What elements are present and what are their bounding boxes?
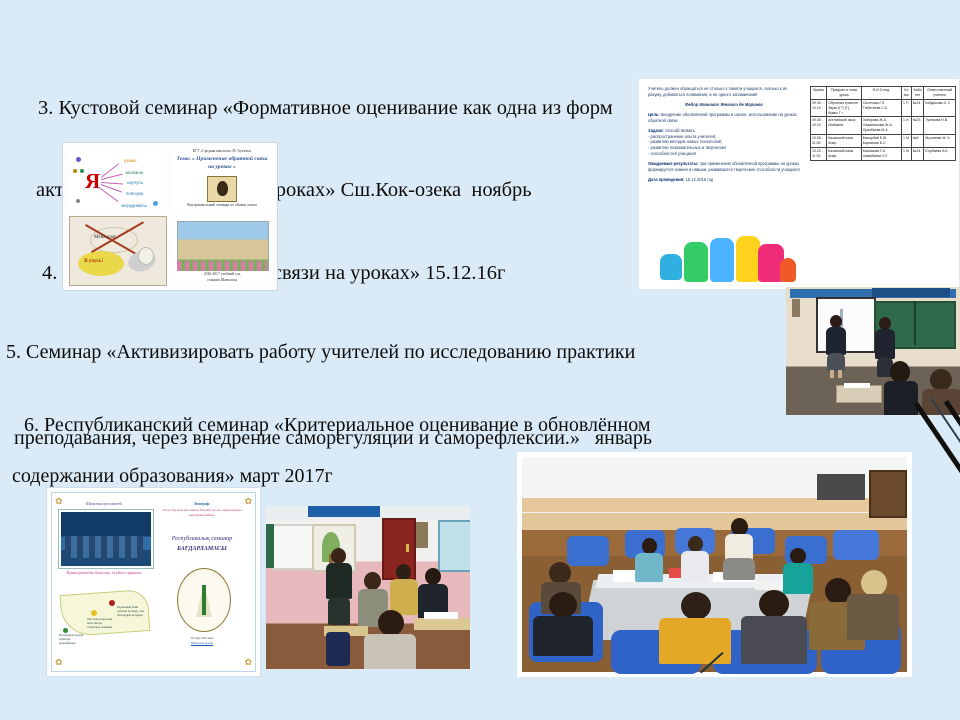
cell: Касымова Г.А. Хамибаева З.У. — [861, 147, 901, 160]
cell: Кобдикова А. С. — [924, 99, 956, 117]
cell: 09.30 - 10.10 — [811, 99, 827, 117]
cell: Батырбай Б.Ж. Каримова Б.С. — [861, 135, 901, 148]
mindmap-label-0: узнаю — [124, 158, 136, 163]
brochure-title-line2: БАҒДАРЛАМАСЫ — [159, 544, 245, 554]
th-5: Ответственный учитель — [924, 87, 956, 100]
ornament-icon: ✿ — [244, 657, 252, 668]
mindmap-label-4: затрудняюсь — [121, 203, 147, 208]
mindmap-label-2: научусь — [127, 180, 143, 185]
cell: Казахский язык Анар. — [827, 147, 862, 160]
cell: 09.30 - 10.10 — [811, 117, 827, 135]
doc-epigraph: Учитель должен обращаться не столько к п… — [648, 86, 800, 98]
table-row: 09.30 - 10.10 Английский язык Любимое За… — [811, 117, 956, 135]
cell: 10.20 - 11.00 — [811, 147, 827, 160]
th-0: Время — [811, 87, 827, 100]
brochure-emblem-icon — [177, 568, 231, 632]
brochure-epigraph-label: Эпиграф: — [159, 502, 245, 506]
item6-line1: 6. Республиканский семинар «Критериально… — [24, 414, 651, 436]
cell: №24 — [911, 99, 924, 117]
decor-stripe — [914, 402, 960, 562]
cell: Елубаева А.К. — [924, 147, 956, 160]
presentation-slide: 3. Кустовой семинар «Формативное оценива… — [0, 0, 960, 720]
th-3: Кл асс — [902, 87, 912, 100]
slide-school-name: КГУ «Средняя школа им. М. Ауэзова» — [175, 149, 269, 153]
cell: №24 — [911, 147, 924, 160]
slide-subtitle: Внутришкольный семинар по обмену опыта — [173, 203, 271, 207]
table-row: 10.20 - 11.00 Казахский язык Анар. Касым… — [811, 147, 956, 160]
cell: Сисенова Г.Л. Тюбетеева С.К. — [861, 99, 901, 117]
doc-schedule-table: Время Предмет и тема урока Ф.И.О пед. Кл… — [810, 86, 956, 161]
slide-quadrant-school-photo: 2016-2017 учебный год станция Шамалган — [173, 217, 271, 285]
doc-epigraph-author: Федор Иванович Янкович де Мариево — [648, 102, 800, 108]
cell: Забирова Ж.А. Хожаниязова Ж.А. Оразбаева… — [861, 117, 901, 135]
item3-line1: 3. Кустовой семинар «Формативное оценива… — [28, 95, 644, 122]
brochure-photo-caption: Критериалды бағалау жүйесі арқылы — [59, 570, 149, 577]
concept-crossed-label: Меня учат — [94, 235, 116, 240]
slide-theme: Тема: « Применение обратной связи на уро… — [173, 156, 271, 171]
image-seminar-plan-document: Учитель должен обращаться не столько к п… — [638, 78, 960, 290]
concept-active-label: Я учусь! — [84, 259, 103, 264]
cell: №23 — [911, 117, 924, 135]
doc-tasks: Задачи: способствовать - распространение… — [648, 128, 800, 158]
brochure-top-caption: Шамалған орта мектебі — [61, 502, 147, 506]
slide-quadrant-title: КГУ «Средняя школа им. М. Ауэзова» Тема:… — [171, 146, 273, 214]
mindmap-center-label: Я — [85, 171, 100, 192]
cell: 1 П — [902, 99, 912, 117]
cell: №6 — [911, 135, 924, 148]
brochure-epigraph: «Егер бір нәрсені жақсы білемін десең, о… — [159, 508, 245, 519]
doc-left-column: Учитель должен обращаться не столько к п… — [648, 86, 800, 187]
cell: 1 М — [902, 135, 912, 148]
image-slide-thumbnail: Я узнаю запомню научусь повторю затрудня… — [62, 142, 278, 291]
doc-goal: Цель: внедрение обновлённой программы в … — [648, 112, 800, 124]
image-classroom-whiteboard — [786, 287, 960, 415]
brochure-title-line1: Республикалық семинар — [159, 534, 245, 544]
th-4: Каби нет — [911, 87, 924, 100]
image-classroom-group-work — [266, 506, 470, 669]
table-row: 09.30 - 10.10 Обучение грамоте Звуки (Г*… — [811, 99, 956, 117]
th-1: Предмет и тема урока — [827, 87, 862, 100]
table-header-row: Время Предмет и тема урока Ф.И.О пед. Кл… — [811, 87, 956, 100]
item5-line1: 5. Семинар «Активизировать работу учител… — [6, 342, 796, 362]
cell: 10.55 - 11.00 — [811, 135, 827, 148]
slide-quadrant-concept: Меня учат Я учусь! — [69, 216, 167, 286]
ornament-icon: ✿ — [244, 496, 252, 507]
cell: Обучение грамоте Звуки (Г*) (Г), буквы Г… — [827, 99, 862, 117]
mindmap-label-1: запомню — [125, 170, 143, 175]
doc-results: Ожидаемые результаты: при применении обн… — [648, 161, 800, 173]
decorative-kids-graphic — [658, 234, 796, 286]
cell: Английский язык Любимое — [827, 117, 862, 135]
doc-date: Дата проведения: 15.12.2016 год — [648, 177, 800, 183]
ornament-icon: ✿ — [55, 657, 63, 668]
mindmap-label-3: повторю — [126, 191, 143, 196]
slide-quadrant-mindmap: Я узнаю запомню научусь повторю затрудня… — [67, 147, 167, 213]
cell: 1 И — [902, 117, 912, 135]
cell: Казахский язык Анар. — [827, 135, 862, 148]
image-conference-hall — [517, 452, 912, 677]
portrait-icon — [207, 176, 237, 202]
image-seminar-brochure: ✿ ✿ ✿ ✿ Шамалған орта мектебі Критериалд… — [46, 487, 261, 677]
cell: 1 М — [902, 147, 912, 160]
school-photo-caption: 2016-2017 учебный год станция Шамалган — [175, 272, 269, 283]
cell: Муханова Ж. К. — [924, 135, 956, 148]
th-2: Ф.И.О пед. — [861, 87, 901, 100]
table-row: 10.55 - 11.00 Казахский язык Анар. Батыр… — [811, 135, 956, 148]
cell: Тулекова Н.В. — [924, 117, 956, 135]
